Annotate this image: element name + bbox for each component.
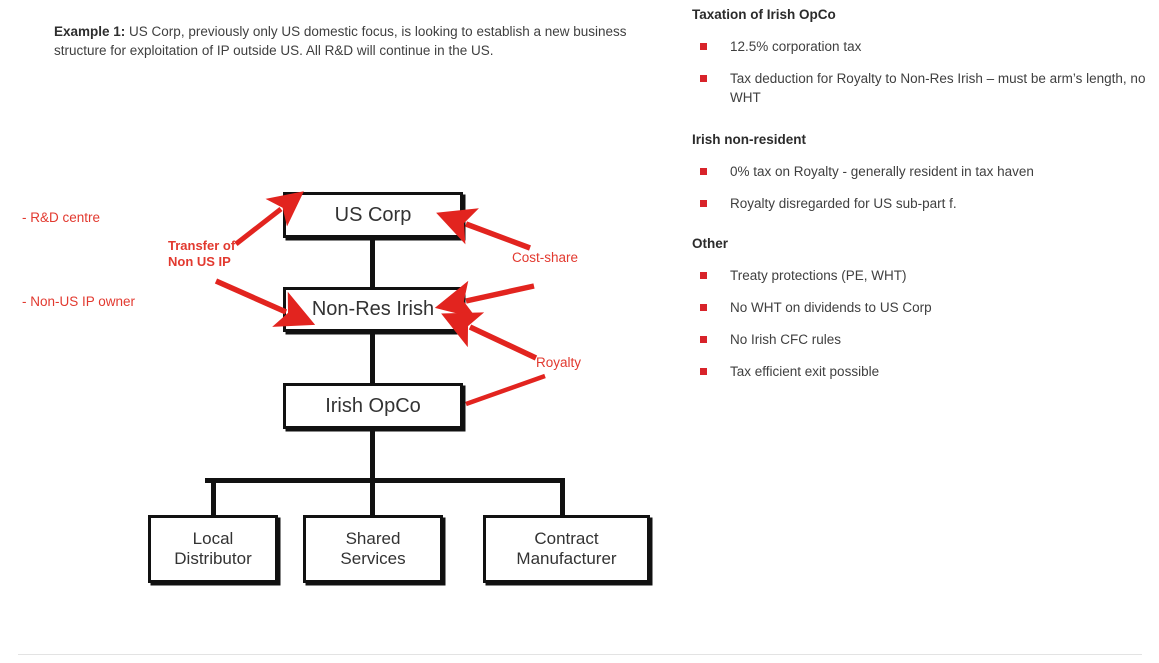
- list-item-text: Tax efficient exit possible: [730, 364, 879, 379]
- annotation-cost-share: Cost-share: [512, 250, 578, 266]
- list-item: Treaty protections (PE, WHT): [692, 266, 1152, 285]
- note-list-taxation: 12.5% corporation tax Tax deduction for …: [692, 37, 1152, 107]
- bullet-square-icon: [700, 75, 707, 82]
- list-item-text: No Irish CFC rules: [730, 332, 841, 347]
- annotation-ip-owner: - Non-US IP owner: [22, 294, 135, 310]
- arrow-royalty-from-opco: [466, 376, 545, 404]
- slide-page: Example 1: US Corp, previously only US d…: [0, 0, 1159, 663]
- list-item: No WHT on dividends to US Corp: [692, 298, 1152, 317]
- arrow-royalty-to-nonres: [470, 327, 536, 358]
- bullet-square-icon: [700, 200, 707, 207]
- list-item-text: Royalty disregarded for US sub-part f.: [730, 196, 957, 211]
- notes-column: Taxation of Irish OpCo 12.5% corporation…: [692, 6, 1152, 385]
- bullet-square-icon: [700, 43, 707, 50]
- spacer: [692, 111, 1152, 131]
- list-item: No Irish CFC rules: [692, 330, 1152, 349]
- structure-diagram: US Corp Non-Res Irish Irish OpCo Local D…: [0, 0, 680, 620]
- note-list-other: Treaty protections (PE, WHT) No WHT on d…: [692, 266, 1152, 381]
- arrow-transfer-to-uscorp: [236, 209, 281, 244]
- bullet-square-icon: [700, 336, 707, 343]
- arrow-costshare-to-nonres: [466, 286, 534, 301]
- note-heading-irish-non-resident: Irish non-resident: [692, 131, 1152, 149]
- annotation-line-2: Non US IP: [168, 254, 231, 269]
- list-item-text: Tax deduction for Royalty to Non-Res Iri…: [730, 71, 1145, 105]
- note-group-taxation: Taxation of Irish OpCo 12.5% corporation…: [692, 6, 1152, 107]
- annotation-rd-centre: - R&D centre: [22, 210, 100, 226]
- note-list-irish-non-resident: 0% tax on Royalty - generally resident i…: [692, 162, 1152, 213]
- note-group-irish-non-resident: Irish non-resident 0% tax on Royalty - g…: [692, 131, 1152, 213]
- annotation-royalty: Royalty: [536, 355, 581, 371]
- bullet-square-icon: [700, 304, 707, 311]
- list-item-text: Treaty protections (PE, WHT): [730, 268, 907, 283]
- list-item: 12.5% corporation tax: [692, 37, 1152, 56]
- note-heading-other: Other: [692, 235, 1152, 253]
- list-item-text: 0% tax on Royalty - generally resident i…: [730, 164, 1034, 179]
- annotation-transfer-of-non-us-ip: Transfer of Non US IP: [168, 238, 235, 270]
- list-item: Royalty disregarded for US sub-part f.: [692, 194, 1152, 213]
- annotation-line-1: Transfer of: [168, 238, 235, 253]
- annotation-arrows: [0, 0, 680, 620]
- note-group-other: Other Treaty protections (PE, WHT) No WH…: [692, 235, 1152, 381]
- bullet-square-icon: [700, 368, 707, 375]
- note-heading-taxation: Taxation of Irish OpCo: [692, 6, 1152, 24]
- spacer: [692, 217, 1152, 235]
- list-item: 0% tax on Royalty - generally resident i…: [692, 162, 1152, 181]
- list-item-text: No WHT on dividends to US Corp: [730, 300, 932, 315]
- footer-divider: [18, 654, 1142, 655]
- arrow-costshare-to-uscorp: [466, 224, 530, 248]
- list-item: Tax efficient exit possible: [692, 362, 1152, 381]
- arrow-transfer-to-nonres: [216, 281, 286, 312]
- list-item-text: 12.5% corporation tax: [730, 39, 861, 54]
- list-item: Tax deduction for Royalty to Non-Res Iri…: [692, 69, 1152, 107]
- bullet-square-icon: [700, 272, 707, 279]
- bullet-square-icon: [700, 168, 707, 175]
